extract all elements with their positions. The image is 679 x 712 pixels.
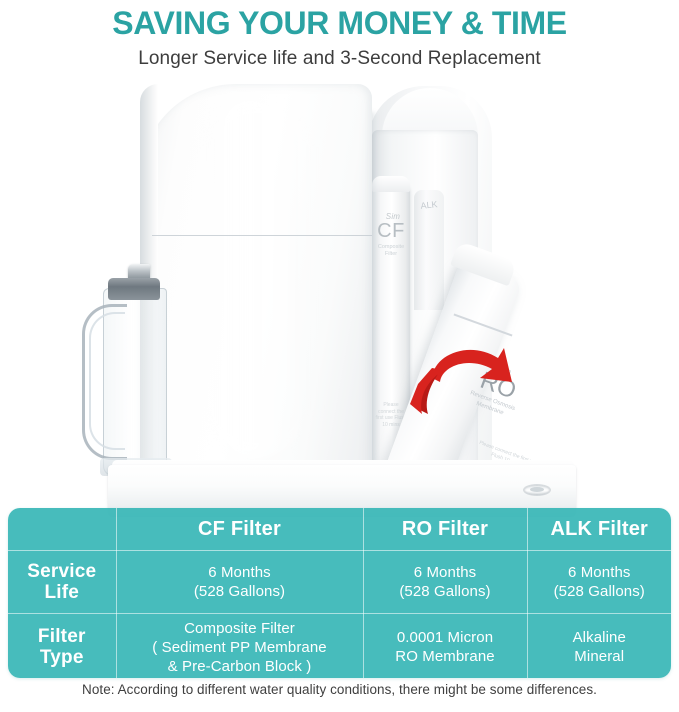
cell-type-alk: Alkaline Mineral	[527, 614, 671, 679]
cell-service-cf: 6 Months (528 Gallons)	[116, 551, 363, 614]
table-corner-cell	[8, 508, 116, 551]
column-header-cf: CF Filter	[116, 508, 363, 551]
cell-service-alk: 6 Months (528 Gallons)	[527, 551, 671, 614]
cell-type-ro: 0.0001 Micron RO Membrane	[363, 614, 527, 679]
cell-service-ro: 6 Months (528 Gallons)	[363, 551, 527, 614]
row-label-filter-type: Filter Type	[8, 614, 116, 679]
column-header-ro: RO Filter	[363, 508, 527, 551]
footer-note: Note: According to different water quali…	[0, 682, 679, 697]
base-port-inner	[530, 487, 544, 492]
table-row-service-life: Service Life 6 Months (528 Gallons) 6 Mo…	[8, 551, 671, 614]
machine-body-highlight	[196, 98, 316, 458]
page-subtitle: Longer Service life and 3-Second Replace…	[0, 42, 679, 70]
page-title: SAVING YOUR MONEY & TIME	[0, 0, 679, 42]
cell-type-cf: Composite Filter ( Sediment PP Membrane …	[116, 614, 363, 679]
header-block: SAVING YOUR MONEY & TIME Longer Service …	[0, 0, 679, 78]
column-header-alk: ALK Filter	[527, 508, 671, 551]
table-header-row: CF Filter RO Filter ALK Filter	[8, 508, 671, 551]
product-photo: ALK Sim CF Composite Filter Please conne…	[0, 72, 679, 517]
rotation-arrow-icon	[408, 334, 520, 420]
spec-table: CF Filter RO Filter ALK Filter Service L…	[8, 508, 671, 678]
row-label-service-life: Service Life	[8, 551, 116, 614]
machine-body-seam	[152, 235, 372, 236]
carafe-handle-inner	[89, 312, 125, 450]
table-row-filter-type: Filter Type Composite Filter ( Sediment …	[8, 614, 671, 679]
carafe-lid	[108, 278, 160, 300]
